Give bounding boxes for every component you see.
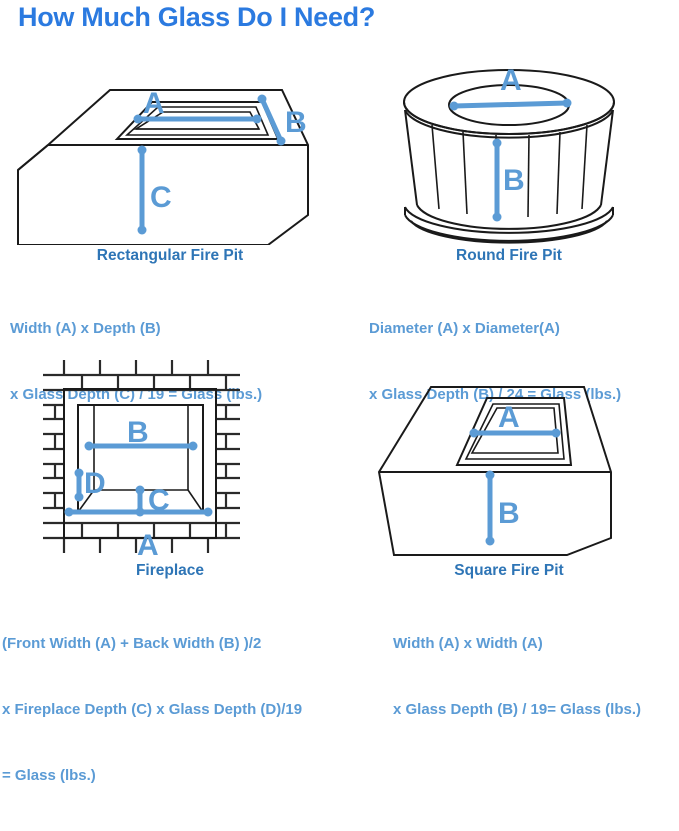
dimension-label-c: C xyxy=(150,181,172,214)
formula-rectangular-line1: Width (A) x Depth (B) xyxy=(10,318,340,340)
dimension-a: A xyxy=(450,64,572,111)
caption-round: Round Fire Pit xyxy=(339,247,679,265)
page-title: How Much Glass Do I Need? xyxy=(18,2,375,33)
dimension-label-b: B xyxy=(498,497,520,530)
dimension-label-b: B xyxy=(127,416,149,449)
formula-square-line1: Width (A) x Width (A) xyxy=(393,633,679,655)
dimension-label-a: A xyxy=(143,87,165,120)
dimension-label-a: A xyxy=(498,401,520,434)
panel-square-fire-pit: A B Square Fire Pit Width (A) x Width (A… xyxy=(339,345,679,765)
formula-square: Width (A) x Width (A) x Glass Depth (B) … xyxy=(339,589,679,765)
dimension-b: B xyxy=(486,471,520,546)
dimension-b: B xyxy=(258,95,307,146)
dimension-a: A xyxy=(134,87,262,124)
dimension-b: B xyxy=(85,416,198,451)
caption-square: Square Fire Pit xyxy=(339,562,679,580)
dimension-label-b: B xyxy=(285,106,307,139)
dimension-c: C xyxy=(138,146,172,235)
fireplace-diagram: B D C A xyxy=(0,345,340,560)
formula-square-line2: x Glass Depth (B) / 19= Glass (lbs.) xyxy=(393,699,679,721)
formula-fireplace-line3: = Glass (lbs.) xyxy=(2,765,340,787)
caption-fireplace: Fireplace xyxy=(0,562,340,580)
caption-rectangular: Rectangular Fire Pit xyxy=(0,247,340,265)
round-fire-pit-diagram: A B xyxy=(339,55,679,245)
dimension-d: D xyxy=(75,467,106,502)
formula-fireplace: (Front Width (A) + Back Width (B) )/2 x … xyxy=(0,589,340,831)
formula-fireplace-line2: x Fireplace Depth (C) x Glass Depth (D)/… xyxy=(2,699,340,721)
dimension-label-b: B xyxy=(503,164,525,197)
dimension-label-d: D xyxy=(84,467,106,500)
dimension-label-a: A xyxy=(137,529,159,560)
square-fire-pit-diagram: A B xyxy=(339,345,679,560)
formula-round-line1: Diameter (A) x Diameter(A) xyxy=(369,318,679,340)
dimension-b: B xyxy=(493,139,525,222)
dimension-label-a: A xyxy=(500,64,522,97)
rectangular-fire-pit-diagram: A B C xyxy=(0,55,340,245)
panel-fireplace: B D C A Firepla xyxy=(0,345,340,831)
formula-fireplace-line1: (Front Width (A) + Back Width (B) )/2 xyxy=(2,633,340,655)
